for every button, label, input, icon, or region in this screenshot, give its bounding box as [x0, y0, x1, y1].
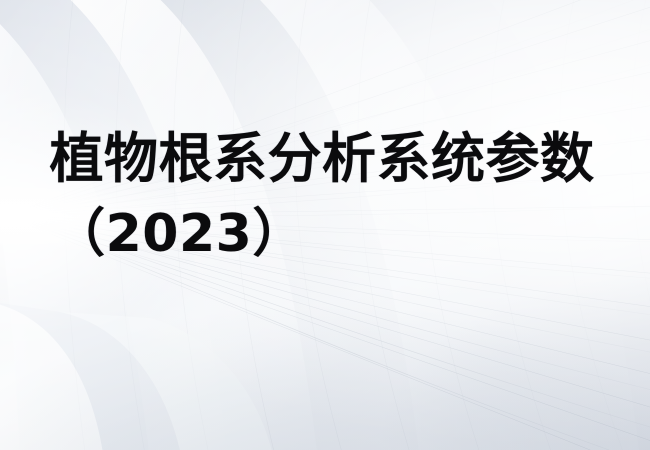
slide-title-line-1: 植物根系分析系统参数	[0, 132, 650, 186]
slide-canvas: 植物根系分析系统参数 （2023）	[0, 0, 650, 450]
ribbon-group-lower	[0, 300, 274, 450]
slide-title-line-2: （2023）	[0, 208, 650, 260]
slide-title-block: 植物根系分析系统参数 （2023）	[0, 132, 650, 260]
